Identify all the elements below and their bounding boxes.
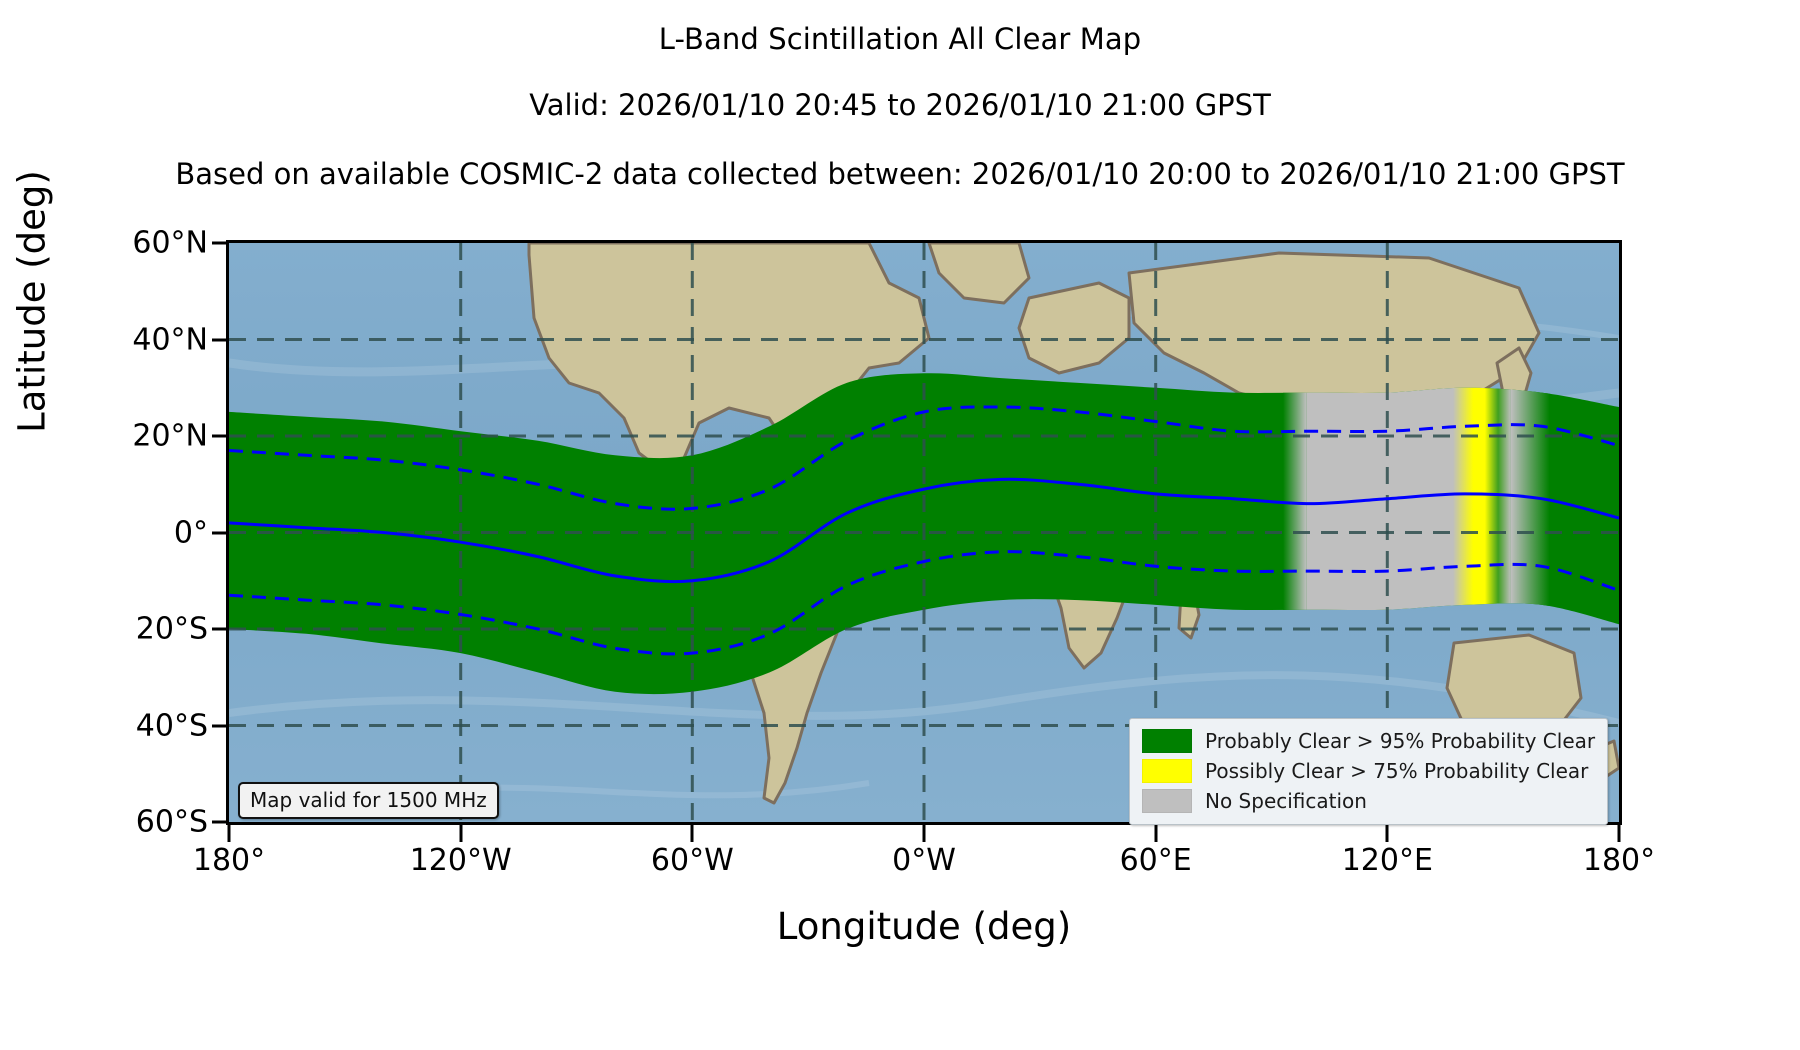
y-tick-label: 0° [40,515,208,550]
x-tick-label: 180° [129,843,329,878]
x-tick-label: 120°E [1287,843,1487,878]
x-tick-mark [691,825,694,842]
legend-label-possibly-clear: Possibly Clear > 75% Probability Clear [1205,759,1588,783]
x-tick-label: 0°W [824,843,1024,878]
validity-subtitle: Valid: 2026/01/10 20:45 to 2026/01/10 21… [0,88,1800,122]
y-tick-label: 20°S [40,612,208,647]
x-tick-mark [228,825,231,842]
y-tick-label: 60°S [40,805,208,840]
x-tick-label: 180° [1519,843,1719,878]
map-legend: Probably Clear > 95% Probability Clear P… [1129,718,1608,825]
data-source-subtitle: Based on available COSMIC-2 data collect… [0,157,1800,191]
figure-canvas: L-Band Scintillation All Clear Map Valid… [0,0,1800,1050]
legend-label-probably-clear: Probably Clear > 95% Probability Clear [1205,729,1595,753]
legend-item-no-specification: No Specification [1142,786,1595,816]
y-tick-label: 20°N [40,419,208,454]
x-tick-mark [1386,825,1389,842]
legend-label-no-specification: No Specification [1205,789,1367,813]
legend-item-possibly-clear: Possibly Clear > 75% Probability Clear [1142,756,1595,786]
x-tick-label: 60°W [592,843,792,878]
x-tick-label: 120°W [361,843,561,878]
page-title: L-Band Scintillation All Clear Map [0,22,1800,56]
legend-swatch-yellow [1142,759,1192,783]
y-tick-label: 40°N [40,322,208,357]
legend-item-probably-clear: Probably Clear > 95% Probability Clear [1142,726,1595,756]
legend-swatch-gray [1142,789,1192,813]
frequency-annotation: Map valid for 1500 MHz [238,782,499,819]
legend-swatch-green [1142,729,1192,753]
y-tick-label: 40°S [40,708,208,743]
x-tick-mark [1154,825,1157,842]
y-tick-label: 60°N [40,226,208,261]
y-axis-label: Latitude (deg) [11,52,54,552]
x-tick-label: 60°E [1056,843,1256,878]
x-axis-label: Longitude (deg) [226,905,1622,948]
x-tick-mark [923,825,926,842]
x-tick-mark [1618,825,1621,842]
x-tick-mark [459,825,462,842]
